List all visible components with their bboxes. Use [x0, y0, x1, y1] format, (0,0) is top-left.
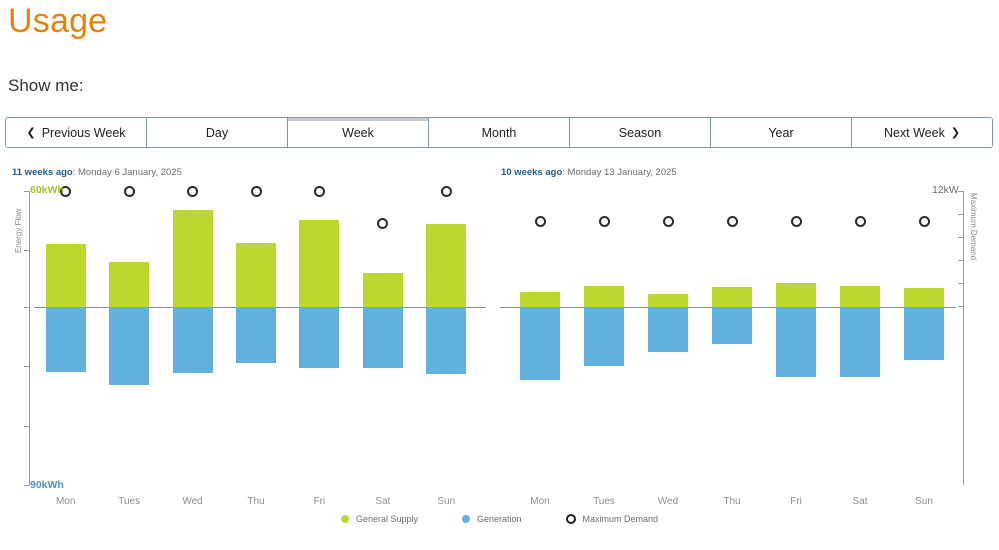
x-axis-label: Tues [574, 496, 634, 507]
bar-general-supply[interactable] [712, 287, 752, 307]
tab-label: Month [482, 126, 517, 140]
bar-generation[interactable] [904, 307, 944, 360]
bar-general-supply[interactable] [648, 294, 688, 307]
tab-label: Year [768, 126, 793, 140]
chevron-right-icon: ❯ [951, 126, 960, 139]
tab-previous-week[interactable]: ❮Previous Week [6, 118, 147, 147]
bar-general-supply[interactable] [776, 283, 816, 307]
legend-green-swatch-icon [341, 515, 349, 523]
marker-maximum-demand[interactable] [663, 216, 674, 227]
bar-general-supply[interactable] [904, 288, 944, 307]
right-axis-tick [958, 306, 964, 307]
legend-blue-swatch-icon [462, 515, 470, 523]
bar-generation[interactable] [712, 307, 752, 344]
bar-general-supply[interactable] [520, 292, 560, 307]
legend-label: General Supply [356, 514, 418, 524]
tab-year[interactable]: Year [711, 118, 852, 147]
chart-caption-title: 10 weeks ago [501, 167, 562, 178]
legend-item: Generation [462, 514, 522, 524]
chart-panel-current: 10 weeks ago: Monday 13 January, 2025Mon… [0, 155, 999, 550]
legend-item: General Supply [341, 514, 418, 524]
marker-maximum-demand[interactable] [855, 216, 866, 227]
bar-generation[interactable] [776, 307, 816, 377]
bar-general-supply[interactable] [584, 286, 624, 307]
bar-generation[interactable] [520, 307, 560, 380]
tab-season[interactable]: Season [570, 118, 711, 147]
x-axis-label: Wed [638, 496, 698, 507]
right-axis-tick [958, 214, 964, 215]
tab-label: Next Week [884, 126, 945, 140]
chart-legend: General SupplyGenerationMaximum Demand [0, 514, 999, 524]
marker-maximum-demand[interactable] [599, 216, 610, 227]
page-title: Usage [8, 2, 107, 41]
chart-caption-date: : Monday 13 January, 2025 [562, 167, 676, 178]
x-axis-label: Fri [766, 496, 826, 507]
bar-general-supply[interactable] [840, 286, 880, 307]
period-tabbar: ❮Previous WeekDayWeekMonthSeasonYearNext… [5, 117, 993, 148]
right-axis-tick [958, 283, 964, 284]
legend-item: Maximum Demand [566, 514, 659, 524]
tab-label: Week [342, 126, 374, 140]
right-axis-title: Maximum Demand [969, 193, 978, 260]
bar-generation[interactable] [648, 307, 688, 352]
x-axis-label: Sat [830, 496, 890, 507]
bar-generation[interactable] [840, 307, 880, 377]
tab-label: Season [619, 126, 661, 140]
right-axis-max-label: 12kW [932, 184, 959, 196]
chevron-left-icon: ❮ [26, 126, 35, 139]
x-axis-label: Sun [894, 496, 954, 507]
marker-maximum-demand[interactable] [791, 216, 802, 227]
tab-label: Day [206, 126, 228, 140]
marker-maximum-demand[interactable] [535, 216, 546, 227]
usage-charts: 11 weeks ago: Monday 6 January, 2025MonT… [0, 155, 999, 550]
tab-day[interactable]: Day [147, 118, 288, 147]
right-axis-tick [958, 260, 964, 261]
right-axis-tick [958, 237, 964, 238]
tab-label: Previous Week [42, 126, 126, 140]
right-axis-line [963, 191, 964, 485]
marker-maximum-demand[interactable] [919, 216, 930, 227]
marker-maximum-demand[interactable] [727, 216, 738, 227]
tab-next-week[interactable]: Next Week❯ [852, 118, 992, 147]
legend-ring-swatch-icon [566, 514, 576, 524]
tab-month[interactable]: Month [429, 118, 570, 147]
show-me-label: Show me: [8, 76, 84, 96]
tab-week[interactable]: Week [288, 118, 429, 147]
x-axis-label: Thu [702, 496, 762, 507]
legend-label: Maximum Demand [583, 514, 659, 524]
chart-caption: 10 weeks ago: Monday 13 January, 2025 [501, 167, 677, 178]
x-axis-label: Mon [510, 496, 570, 507]
bar-generation[interactable] [584, 307, 624, 366]
legend-label: Generation [477, 514, 522, 524]
